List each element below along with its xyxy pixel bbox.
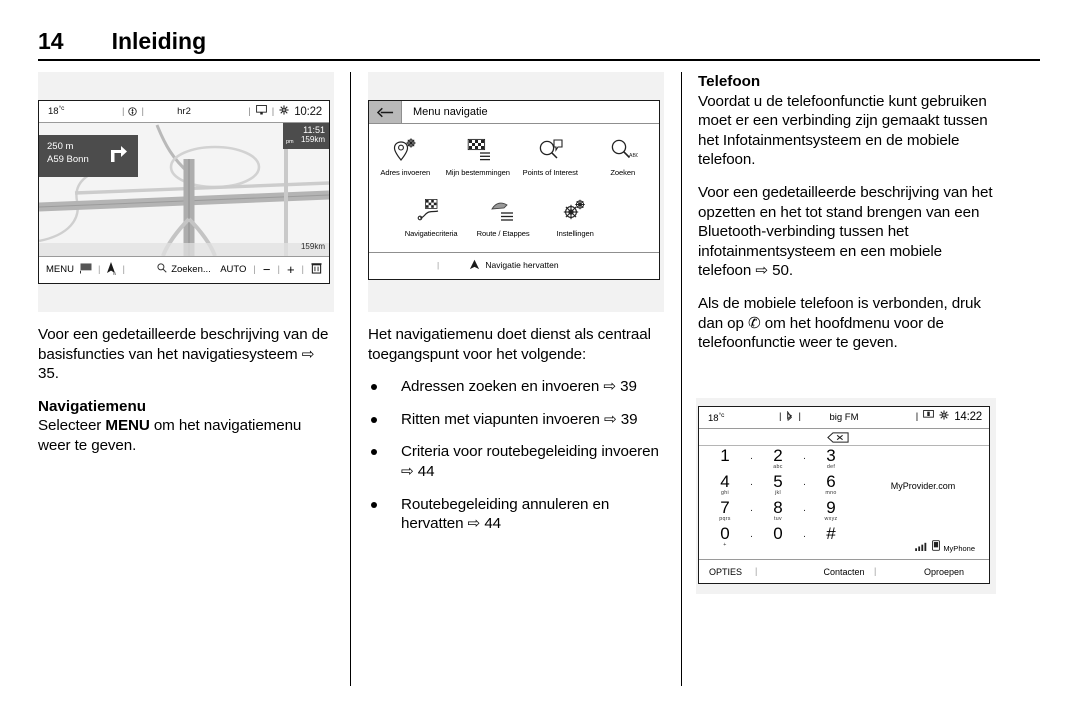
list-item: Criteria voor routebegeleiding invoeren … [368,442,664,481]
menu-feature-list: Adressen zoeken en invoeren ⇨ 39 Ritten … [368,377,664,534]
turn-right-icon [108,145,128,168]
navigation-menu-screen[interactable]: Menu navigatie [368,100,660,280]
delete-route-icon[interactable] [311,262,322,277]
key-separator: · [798,499,811,516]
menu-tile-label: Zoeken [610,168,635,177]
eta-meridiem: pm [286,139,294,145]
navigation-map-screen[interactable]: 18°c | | hr2 | | 10:22 [38,100,330,284]
keypad-row: 4ghi · 5jkl · 6mno [705,473,853,499]
menu-tile-points-of-interest[interactable]: Points of Interest [514,132,587,177]
mobile-phone-icon [932,540,940,553]
key-separator: · [798,473,811,490]
column-1-text: Voor een gedetailleerde beschrijving van… [38,325,334,469]
auto-zoom-button[interactable]: AUTO [220,264,246,275]
header-rule [38,59,1040,61]
heading-telefoon: Telefoon [698,72,994,92]
menu-tile-label: Navigatiecriteria [405,229,458,238]
keypad-row: 1 · 2abc · 3def [705,447,853,473]
nav-status-bar: 18°c | | hr2 | | 10:22 [39,101,329,123]
key-0-plus[interactable]: 0+ [705,525,745,548]
route-stages-icon [488,195,518,227]
signal-bars-icon [915,541,929,553]
settings-gears-icon [560,195,590,227]
phone-footer-bar: OPTIES | Contacten | Oproepen [699,559,989,583]
menu-tile-instellingen[interactable]: Instellingen [539,193,611,238]
column-divider-1 [350,72,351,686]
key-3[interactable]: 3def [811,447,851,470]
resume-navigation-label: Navigatie hervatten [485,260,558,270]
key-4[interactable]: 4ghi [705,473,745,496]
key-separator: · [745,447,758,464]
menu-tile-label: Adres invoeren [380,168,430,177]
page-number: 14 [38,28,64,55]
eta-box: 11:51 159km pm [283,123,329,149]
list-item: Adressen zoeken en invoeren ⇨ 39 [368,377,664,397]
keypad-row: 0+ · 0 · # [705,525,853,551]
points-of-interest-icon [535,134,565,166]
key-separator: · [798,525,811,542]
my-destinations-icon [463,134,493,166]
phone-keypad[interactable]: 1 · 2abc · 3def 4ghi · 5jkl · 6mno [705,447,853,551]
phone-body: 1 · 2abc · 3def 4ghi · 5jkl · 6mno [699,429,989,559]
key-2[interactable]: 2abc [758,447,798,470]
chapter-title: Inleiding [112,28,207,55]
calls-button[interactable]: Oproepen [924,567,964,577]
menu-tile-label: Instellingen [557,229,594,238]
phone-signal-group: MyPhone [915,540,975,553]
phone-name-label: MyPhone [943,544,975,553]
remaining-distance: 159km [301,242,325,251]
nav-status-right-group: | | 10:22 [248,105,322,118]
bullet-dot [371,502,377,508]
footer-separator: | [874,566,876,576]
key-separator: · [745,525,758,542]
search-placeholder: Zoeken... [171,264,211,275]
phone-status-right-group: | 14:22 [916,410,982,423]
search-icon [157,263,167,276]
menu-row-2: Navigatiecriteria [369,193,659,238]
key-hash[interactable]: # [811,525,851,542]
menu-header-bar: Menu navigatie [369,101,659,124]
column-2-text: Het navigatiemenu doet dienst als centra… [368,325,664,547]
nav-bottom-right-group: AUTO | − | + | [220,262,322,277]
key-7[interactable]: 7pqrs [705,499,745,522]
zoom-out-button[interactable]: − [263,262,271,277]
phone-number-input[interactable] [699,429,989,446]
key-9[interactable]: 9wxyz [811,499,851,522]
bullet-dot [371,384,377,390]
menu-tile-label: Route / Etappes [477,229,530,238]
clock-readout: 10:22 [294,106,322,118]
page-header: 14 Inleiding [38,28,1040,55]
settings-icon [939,410,949,423]
menu-tile-zoeken[interactable]: ABC Zoeken [587,132,660,177]
list-item: Ritten met viapunten invoeren ⇨ 39 [368,410,664,430]
menu-tile-label: Points of Interest [523,168,578,177]
display-icon [923,410,934,423]
menu-row-1: Adres invoeren [369,132,659,177]
paragraph-press-phone: Als de mobiele telefoon is verbonden, dr… [698,294,994,353]
address-entry-icon [390,134,420,166]
menu-footer-bar[interactable]: | Navigatie hervatten [369,252,659,277]
phone-glyph-icon: ✆ [748,314,761,332]
menu-tile-navigatiecriteria[interactable]: Navigatiecriteria [395,193,467,238]
display-icon [256,105,267,118]
key-8[interactable]: 8tuv [758,499,798,522]
back-arrow-icon[interactable] [369,101,402,123]
key-separator: · [745,499,758,516]
nav-bottom-bar: MENU | N | Zoeken... [39,256,329,282]
menu-tile-route-etappes[interactable]: Route / Etappes [467,193,539,238]
paragraph-bluetooth-ref: Voor een gedetailleerde beschrijving van… [698,183,994,281]
key-6[interactable]: 6mno [811,473,851,496]
eta-time: 11:51 [283,125,325,135]
turn-guidance-box: 250 m A59 Bonn [39,135,138,177]
clock-readout: 14:22 [954,411,982,423]
key-separator: · [745,473,758,490]
bullet-dot [371,449,377,455]
paragraph-menu-intro: Het navigatiemenu doet dienst als centra… [368,325,664,364]
footer-separator: | [437,260,439,270]
heading-navigatiemenu: Navigatiemenu [38,397,334,417]
manual-page: 14 Inleiding 18°c | | hr2 | [0,0,1078,720]
key-5[interactable]: 5jkl [758,473,798,496]
settings-icon [279,105,289,118]
navigation-criteria-icon [416,195,446,227]
key-1[interactable]: 1 [705,447,745,464]
paragraph-phone-intro: Voordat u de telefoonfunctie kunt gebrui… [698,92,994,170]
phone-status-bar: 18°c | | big FM | [699,407,989,429]
key-0[interactable]: 0 [758,525,798,542]
search-icon: ABC [608,134,638,166]
menu-tile-adres-invoeren[interactable]: Adres invoeren [369,132,442,177]
provider-label: MyProvider.com [859,481,987,491]
menu-tile-mijn-bestemmingen[interactable]: Mijn bestemmingen [442,132,515,177]
menu-tile-label: Mijn bestemmingen [446,168,510,177]
resume-navigation-icon [469,259,480,272]
keypad-row: 7pqrs · 8tuv · 9wxyz [705,499,853,525]
svg-text:ABC: ABC [629,153,638,159]
map-canvas[interactable]: 250 m A59 Bonn 11:51 159km pm 159km [39,123,329,256]
column-3-text: Telefoon Voordat u de telefoonfunctie ku… [698,72,994,366]
paragraph-select-menu: Selecteer MENU om het navigatiemenu weer… [38,416,334,455]
key-separator: · [798,447,811,464]
menu-title: Menu navigatie [413,106,488,118]
menu-tiles: Adres invoeren [369,124,659,252]
phone-keypad-screen[interactable]: 18°c | | big FM | [698,406,990,584]
paragraph-basic-functions: Voor een gedetailleerde beschrijving van… [38,325,334,384]
column-divider-2 [681,72,682,686]
list-item: Routebegeleiding annuleren en hervatten … [368,495,664,534]
zoom-in-button[interactable]: + [287,262,295,277]
bullet-dot [371,417,377,423]
